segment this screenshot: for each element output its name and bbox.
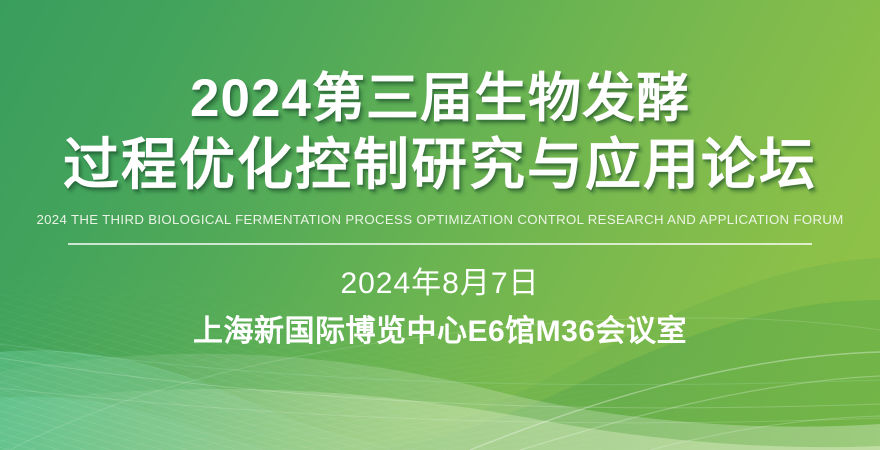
event-venue: 上海新国际博览中心E6馆M36会议室: [0, 314, 880, 350]
divider-rule: [68, 243, 812, 245]
event-meta-block: 2024年8月7日 上海新国际博览中心E6馆M36会议室: [0, 266, 880, 350]
banner-content: 2024第三届生物发酵 过程优化控制研究与应用论坛 2024 THE THIRD…: [0, 0, 880, 450]
title-line-primary: 2024第三届生物发酵: [0, 72, 880, 125]
subtitle-english: 2024 THE THIRD BIOLOGICAL FERMENTATION P…: [0, 212, 880, 227]
event-date: 2024年8月7日: [0, 266, 880, 302]
title-line-secondary: 过程优化控制研究与应用论坛: [0, 137, 880, 193]
event-banner: 2024第三届生物发酵 过程优化控制研究与应用论坛 2024 THE THIRD…: [0, 0, 880, 450]
title-block: 2024第三届生物发酵 过程优化控制研究与应用论坛: [0, 72, 880, 193]
